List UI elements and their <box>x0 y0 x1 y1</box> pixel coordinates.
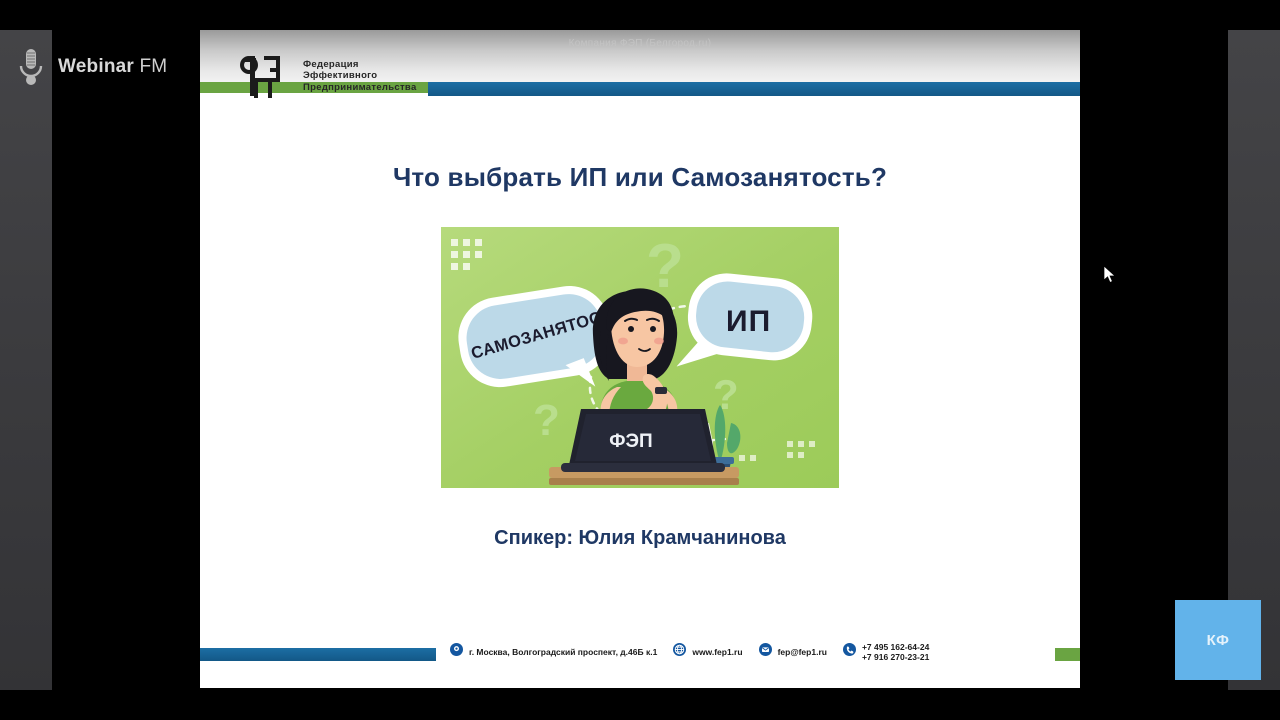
address-text: г. Москва, Волгоградский проспект, д.46Б… <box>469 647 657 657</box>
left-panel <box>0 30 52 690</box>
right-panel <box>1228 30 1280 690</box>
company-logo: Федерация Эффективного Предпринимательст… <box>240 52 417 100</box>
footer-contacts: г. Москва, Волгоградский проспект, д.46Б… <box>450 634 1070 670</box>
app-brand-label: Webinar FM <box>58 56 167 78</box>
avatar-initials: КФ <box>1207 632 1230 649</box>
envelope-icon <box>759 643 772 661</box>
participant-avatar[interactable]: КФ <box>1175 600 1261 680</box>
logo-monogram-icon <box>240 52 294 100</box>
app-brand: Webinar FM <box>16 46 167 88</box>
logo-line-3: Предпринимательства <box>303 82 417 94</box>
mouse-cursor-icon <box>1104 266 1118 284</box>
contact-email[interactable]: fep@fep1.ru <box>759 643 827 661</box>
phone-line-1: +7 495 162-64-24 <box>862 642 929 653</box>
contact-phone: +7 495 162-64-24 +7 916 270-23-21 <box>843 642 929 663</box>
slide-watermark: Компания ФЭП (Белгород.ru) <box>200 38 1080 49</box>
globe-icon <box>673 643 686 661</box>
svg-text:?: ? <box>533 396 560 445</box>
footer-blue-bar <box>200 648 436 661</box>
brand-name-main: Webinar <box>58 56 134 77</box>
logo-text: Федерация Эффективного Предпринимательст… <box>303 59 417 94</box>
header-blue-bar <box>428 82 1080 96</box>
laptop-logo-text: ФЭП <box>609 431 652 452</box>
slide-illustration: ? ? ? САМОЗАНЯТОСТЬ <box>441 227 839 488</box>
phone-line-2: +7 916 270-23-21 <box>862 652 929 663</box>
contact-address: г. Москва, Волгоградский проспект, д.46Б… <box>450 643 657 661</box>
logo-line-2: Эффективного <box>303 70 417 82</box>
location-pin-icon <box>450 643 463 661</box>
svg-text:?: ? <box>713 371 739 418</box>
webinar-viewer: Webinar FM Компания ФЭП (Белгород.ru) <box>0 0 1280 720</box>
logo-line-1: Федерация <box>303 59 417 71</box>
slide-title: Что выбрать ИП или Самозанятость? <box>200 162 1080 193</box>
phone-text: +7 495 162-64-24 +7 916 270-23-21 <box>862 642 929 663</box>
phone-icon <box>843 643 856 661</box>
presentation-slide[interactable]: Компания ФЭП (Белгород.ru) <box>200 30 1080 688</box>
microphone-icon <box>16 46 46 88</box>
brand-name-suffix: FM <box>134 56 167 77</box>
bubble-right-text: ИП <box>726 305 771 338</box>
slide-speaker: Спикер: Юлия Крамчанинова <box>200 527 1080 550</box>
website-text: www.fep1.ru <box>692 647 742 657</box>
contact-website[interactable]: www.fep1.ru <box>673 643 742 661</box>
email-text: fep@fep1.ru <box>778 647 827 657</box>
